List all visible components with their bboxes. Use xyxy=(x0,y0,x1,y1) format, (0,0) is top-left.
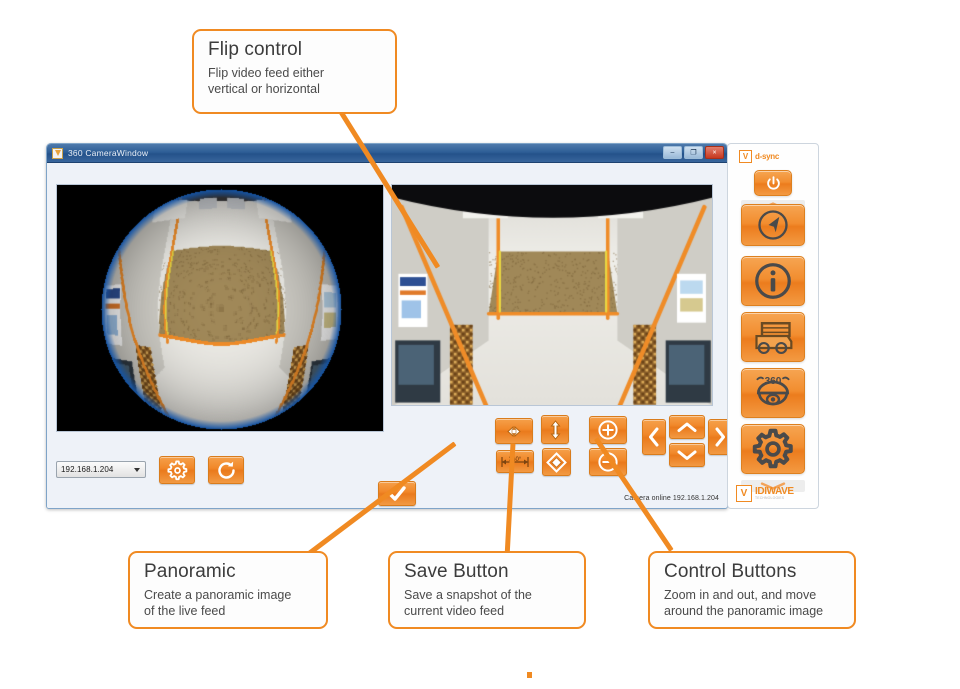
arrow-up-icon xyxy=(677,420,697,434)
pan-left-button[interactable] xyxy=(642,419,666,455)
arrow-left-icon xyxy=(647,427,661,447)
refresh-icon xyxy=(216,460,237,481)
app-icon xyxy=(52,148,63,159)
pan-up-button[interactable] xyxy=(669,415,705,439)
brand-mark-icon: V xyxy=(739,150,752,163)
settings-panel-button[interactable] xyxy=(741,424,805,474)
zoom-in-icon xyxy=(597,419,619,441)
callout-body: Save a snapshot of the current video fee… xyxy=(404,587,572,620)
close-button[interactable]: × xyxy=(705,146,724,159)
brand-mark-icon: V xyxy=(736,485,752,502)
refresh-button[interactable] xyxy=(208,456,244,484)
pan-down-button[interactable] xyxy=(669,443,705,467)
brand-name-top: d-sync xyxy=(755,152,779,161)
dome-360-icon: 360 xyxy=(751,372,795,414)
maximize-button[interactable]: ❐ xyxy=(684,146,703,159)
callout-flip-control: Flip control Flip video feed either vert… xyxy=(192,29,397,114)
stray-mark xyxy=(527,672,532,678)
window-controls: – ❐ × xyxy=(663,146,724,159)
callout-title: Panoramic xyxy=(144,562,314,583)
minimize-icon: – xyxy=(671,149,675,156)
gear-icon xyxy=(167,460,188,481)
brand-mark-letter: V xyxy=(741,489,748,499)
panoramic-button[interactable]: 360° xyxy=(496,450,534,473)
save-button[interactable] xyxy=(542,448,571,476)
close-icon: × xyxy=(712,149,716,156)
callout-save-button: Save Button Save a snapshot of the curre… xyxy=(388,551,586,629)
save-diamond-icon xyxy=(546,452,567,473)
tool-panel: V d-sync xyxy=(727,143,819,509)
brand-name-block: IDIWAVE TECHNOLOGIES xyxy=(755,487,794,500)
arrow-right-icon xyxy=(713,427,727,447)
info-circle-icon xyxy=(752,260,794,302)
screenshot-root: Flip control Flip video feed either vert… xyxy=(0,0,960,689)
callout-title: Save Button xyxy=(404,562,572,583)
navigate-button[interactable] xyxy=(741,204,805,246)
flip-vertical-icon xyxy=(549,418,562,442)
camera-application-window: 360 CameraWindow – ❐ × xyxy=(46,143,728,509)
vehicle-button[interactable] xyxy=(741,312,805,362)
callout-body: Flip video feed either vertical or horiz… xyxy=(208,65,383,98)
brand-logo-top: V d-sync xyxy=(739,150,779,163)
flip-vertical-button[interactable] xyxy=(541,415,569,444)
brand-logo-bottom: V IDIWAVE TECHNOLOGIES xyxy=(736,485,794,502)
power-icon xyxy=(765,175,782,192)
pan-right-button[interactable] xyxy=(708,419,728,455)
window-title: 360 CameraWindow xyxy=(68,148,148,158)
dome-camera-button[interactable]: 360 xyxy=(741,368,805,418)
callout-title: Control Buttons xyxy=(664,562,842,583)
settings-button[interactable] xyxy=(159,456,195,484)
arrow-down-icon xyxy=(677,448,697,462)
chevron-down-icon xyxy=(134,468,140,472)
window-body: 360° xyxy=(47,163,727,508)
brand-tagline: TECHNOLOGIES xyxy=(755,497,794,500)
window-titlebar[interactable]: 360 CameraWindow – ❐ × xyxy=(47,144,727,163)
maximize-icon: ❐ xyxy=(690,149,696,156)
navigate-globe-icon xyxy=(755,207,791,243)
minimize-button[interactable]: – xyxy=(663,146,682,159)
camera-ip-value: 192.168.1.204 xyxy=(61,465,113,474)
flip-horizontal-icon xyxy=(501,425,527,438)
callout-control-buttons: Control Buttons Zoom in and out, and mov… xyxy=(648,551,856,629)
info-button[interactable] xyxy=(741,256,805,306)
gear-icon xyxy=(752,428,794,470)
power-button[interactable] xyxy=(754,170,792,196)
flip-horizontal-button[interactable] xyxy=(495,418,533,444)
vehicle-icon xyxy=(751,317,795,357)
callout-body: Create a panoramic image of the live fee… xyxy=(144,587,314,620)
camera-ip-select[interactable]: 192.168.1.204 xyxy=(56,461,146,478)
panoramic-360-icon: 360° xyxy=(499,454,531,470)
panoramic-video-feed[interactable] xyxy=(391,184,713,406)
fisheye-video-feed[interactable] xyxy=(56,184,384,432)
callout-body: Zoom in and out, and move around the pan… xyxy=(664,587,842,620)
brand-mark-letter: V xyxy=(743,153,748,161)
callout-title: Flip control xyxy=(208,40,383,61)
callout-panoramic: Panoramic Create a panoramic image of th… xyxy=(128,551,328,629)
